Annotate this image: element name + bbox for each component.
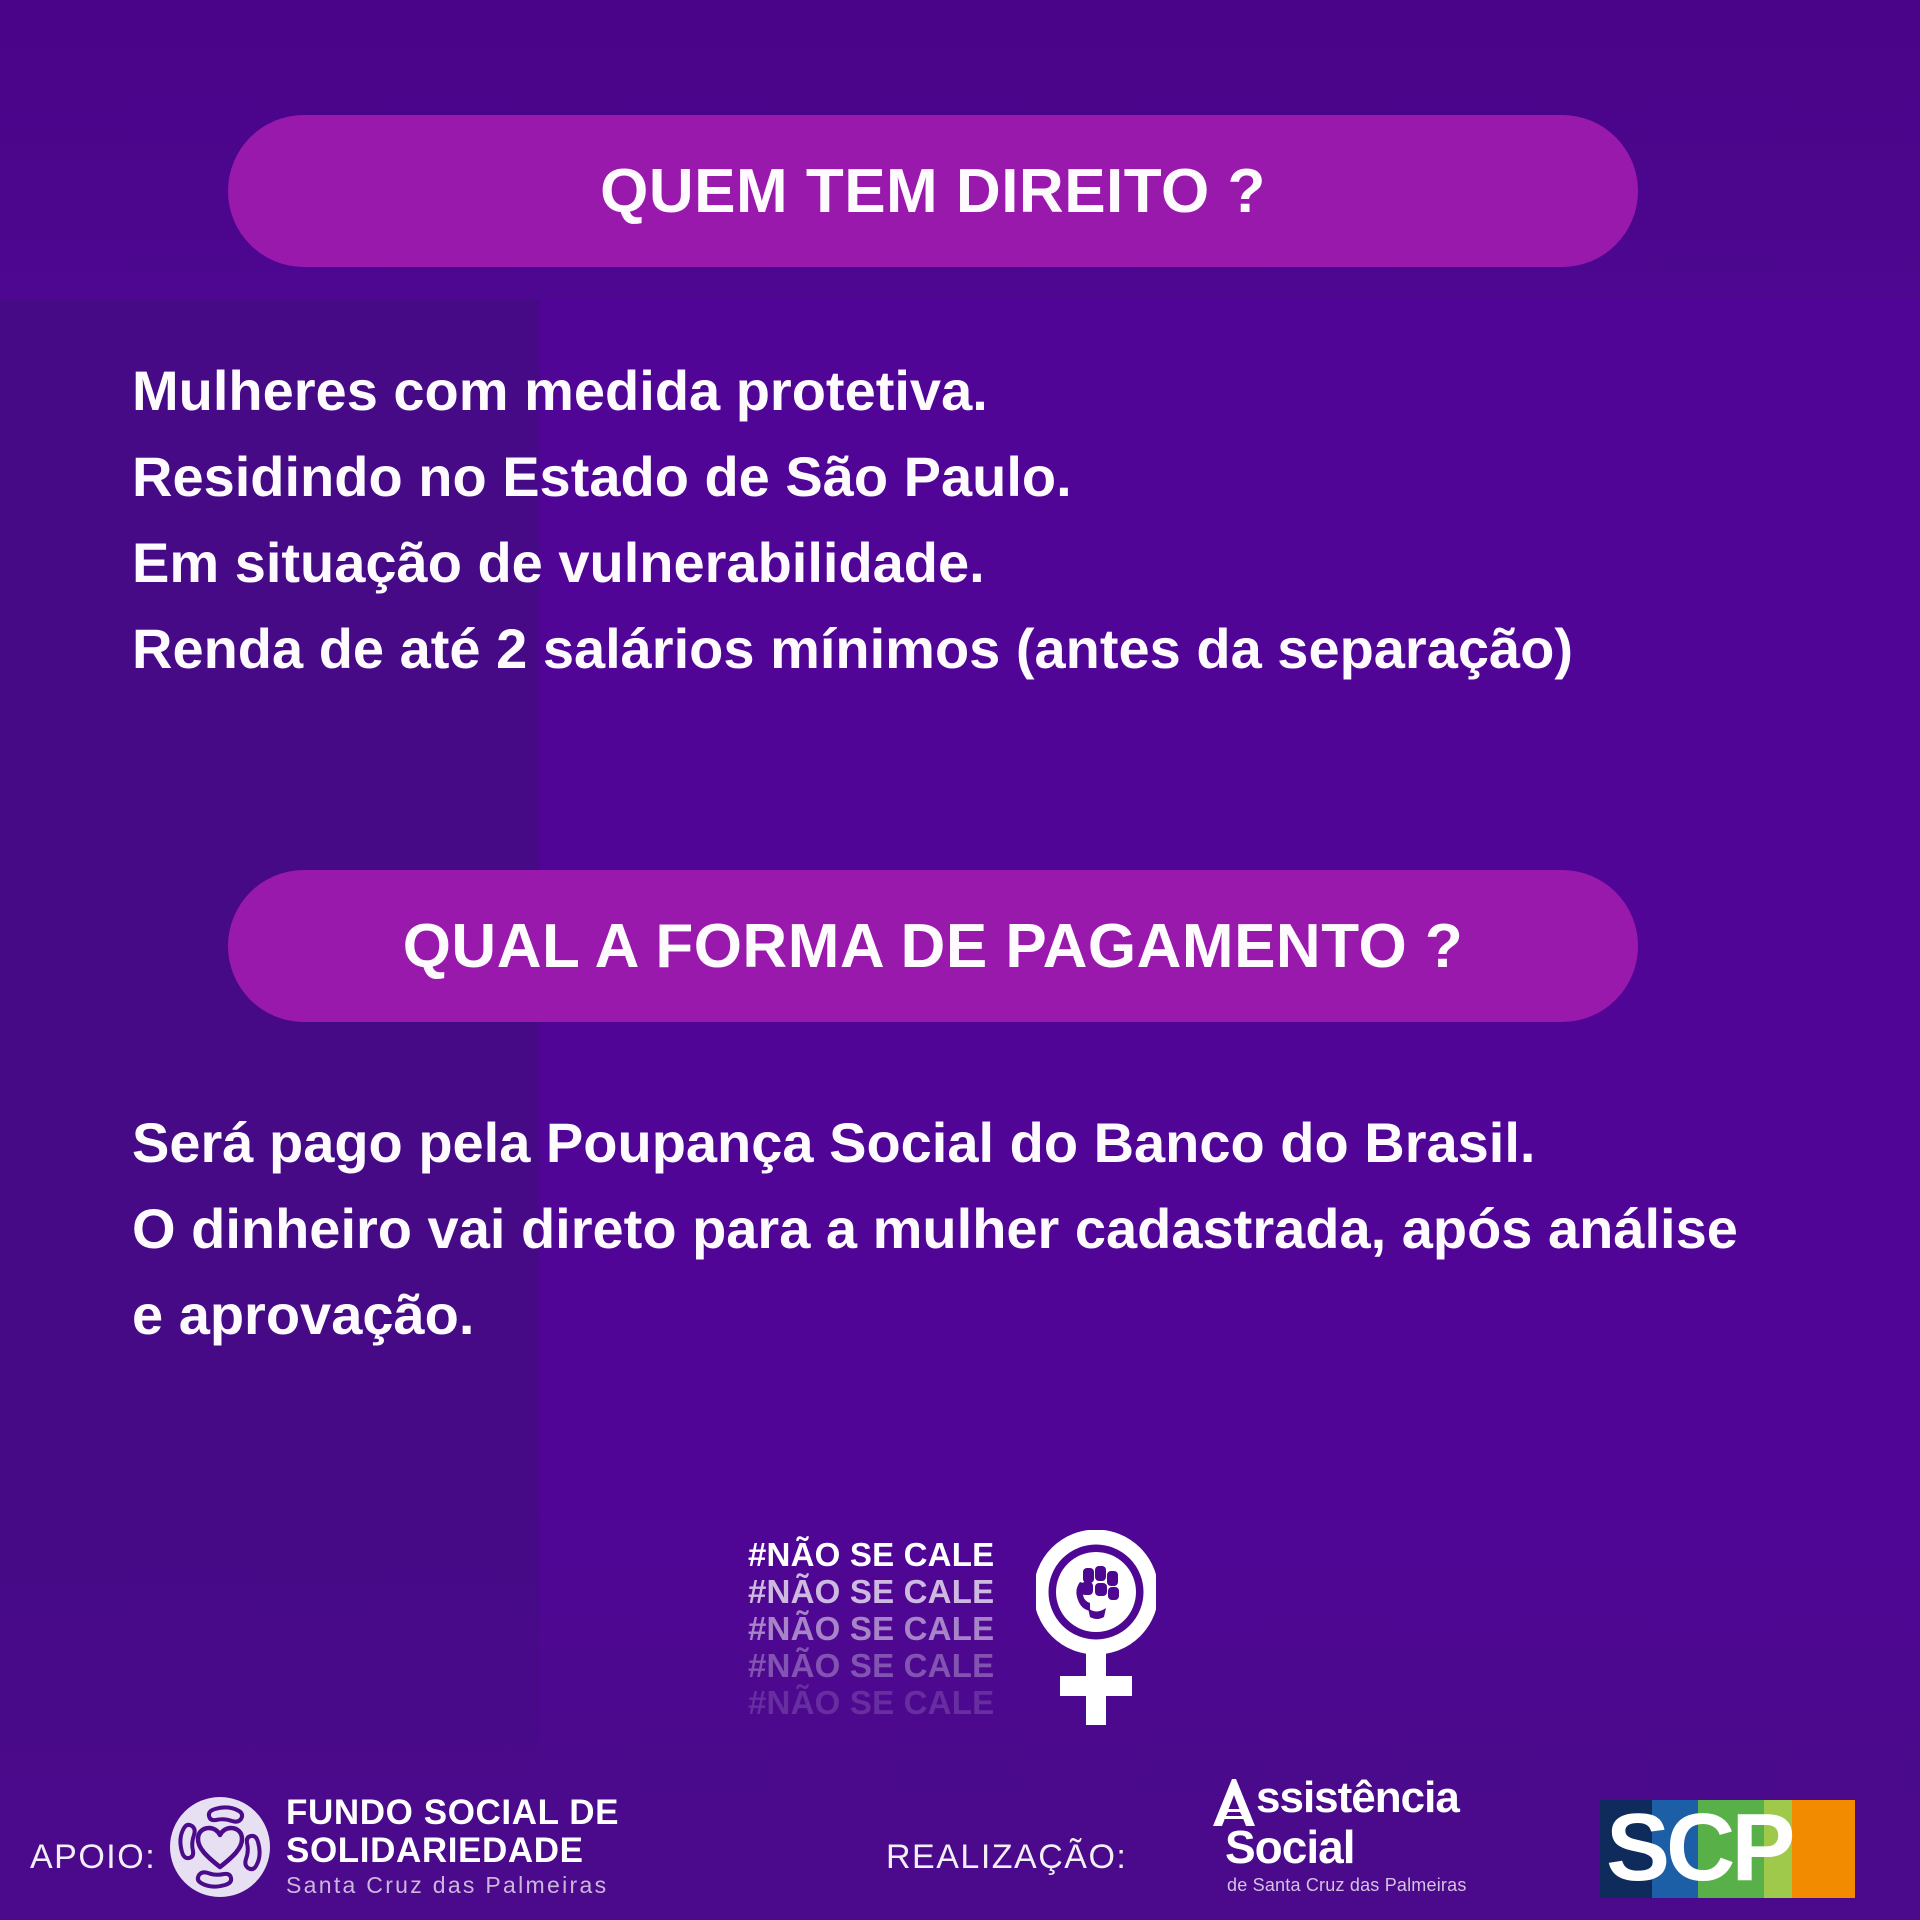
hands-heart-circle-icon bbox=[168, 1795, 272, 1899]
payment-line-1: Será pago pela Poupança Social do Banco … bbox=[132, 1100, 1782, 1186]
requirements-text-block: Mulheres com medida protetiva. Residindo… bbox=[132, 348, 1782, 692]
feminist-fist-icon bbox=[1036, 1530, 1156, 1730]
payment-text-block: Será pago pela Poupança Social do Banco … bbox=[132, 1100, 1782, 1358]
nao-se-cale-line: #NÃO SE CALE bbox=[748, 1536, 1016, 1573]
realizacao-label: REALIZAÇÃO: bbox=[886, 1838, 1127, 1877]
apoio-label: APOIO: bbox=[30, 1838, 156, 1877]
requirement-line-2: Residindo no Estado de São Paulo. bbox=[132, 434, 1782, 520]
payment-line-2: O dinheiro vai direto para a mulher cada… bbox=[132, 1186, 1782, 1358]
banner-qual-a-forma-de-pagamento: QUAL A FORMA DE PAGAMENTO ? bbox=[228, 870, 1638, 1022]
assistencia-first-row: ssistência bbox=[1213, 1775, 1459, 1826]
assistencia-social-logo: ssistência Social de Santa Cruz das Palm… bbox=[1213, 1775, 1513, 1907]
requirement-line-3: Em situação de vulnerabilidade. bbox=[132, 520, 1782, 606]
fundo-social-text: FUNDO SOCIAL DE SOLIDARIEDADE Santa Cruz… bbox=[286, 1794, 596, 1900]
fundo-social-logo: FUNDO SOCIAL DE SOLIDARIEDADE Santa Cruz… bbox=[168, 1792, 598, 1910]
banner-qual-a-forma-de-pagamento-label: QUAL A FORMA DE PAGAMENTO ? bbox=[403, 911, 1464, 982]
scp-logo: SCP bbox=[1600, 1800, 1855, 1898]
scp-letters: SCP bbox=[1606, 1800, 1792, 1898]
nao-se-cale-line: #NÃO SE CALE bbox=[748, 1610, 1016, 1647]
social-word: Social bbox=[1225, 1823, 1355, 1871]
assistencia-subtitle: de Santa Cruz das Palmeiras bbox=[1227, 1875, 1467, 1896]
nao-se-cale-line: #NÃO SE CALE bbox=[748, 1573, 1016, 1610]
banner-quem-tem-direito: QUEM TEM DIREITO ? bbox=[228, 115, 1638, 267]
nao-se-cale-repeated-lines: #NÃO SE CALE #NÃO SE CALE #NÃO SE CALE #… bbox=[748, 1536, 1016, 1721]
banner-quem-tem-direito-label: QUEM TEM DIREITO ? bbox=[600, 156, 1266, 227]
fundo-social-line-2: SOLIDARIEDADE bbox=[286, 1832, 596, 1870]
fundo-social-line-1: FUNDO SOCIAL DE bbox=[286, 1794, 596, 1832]
nao-se-cale-line: #NÃO SE CALE bbox=[748, 1647, 1016, 1684]
triangle-a-icon bbox=[1213, 1779, 1255, 1826]
nao-se-cale-line: #NÃO SE CALE bbox=[748, 1684, 1016, 1721]
assistencia-word: ssistência bbox=[1256, 1775, 1459, 1821]
requirement-line-4: Renda de até 2 salários mínimos (antes d… bbox=[132, 606, 1782, 692]
nao-se-cale-campaign-mark: #NÃO SE CALE #NÃO SE CALE #NÃO SE CALE #… bbox=[748, 1530, 1168, 1750]
fundo-social-subtitle: Santa Cruz das Palmeiras bbox=[286, 1870, 596, 1900]
requirement-line-1: Mulheres com medida protetiva. bbox=[132, 348, 1782, 434]
